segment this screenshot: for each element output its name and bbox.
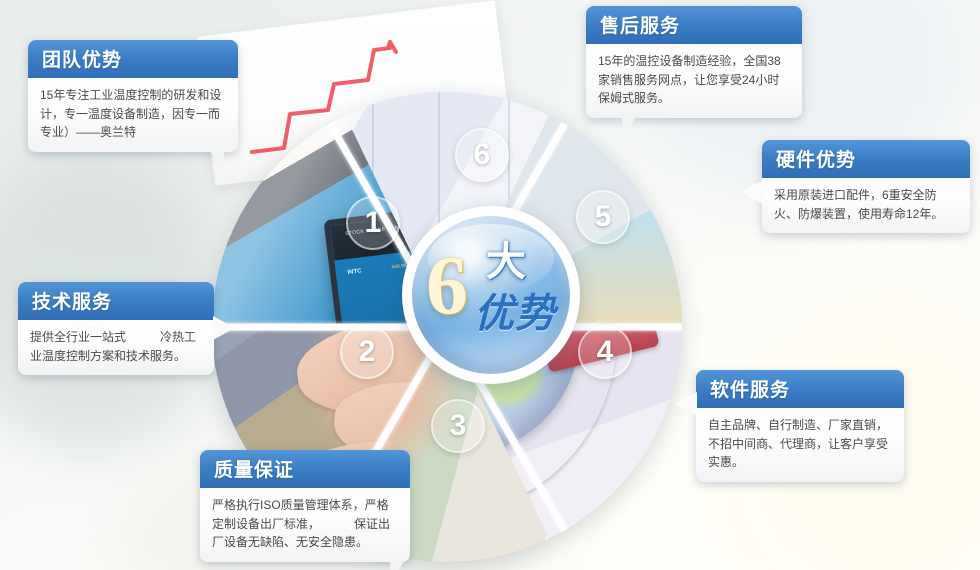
callout-card-quality[interactable]: 质量保证 严格执行ISO质量管理体系，严格定制设备出厂标准，保证出厂设备无缺陷、…	[200, 450, 410, 562]
card-text-after-sales: 15年的温控设备制造经验，全国38家销售服务网点，让您享受24小时保姆式服务。	[586, 44, 802, 118]
marker-4[interactable]: 4	[578, 325, 632, 379]
marker-2[interactable]: 2	[340, 325, 394, 379]
callout-card-software[interactable]: 软件服务 自主品牌、自行制造、厂家直销，不招中间商、代理商，让客户享受实惠。	[696, 370, 904, 482]
hub-big-char: 大	[486, 242, 526, 282]
marker-3[interactable]: 3	[431, 399, 485, 453]
marker-1[interactable]: 1	[346, 196, 400, 250]
card-text-hardware: 采用原装进口配件，6重安全防火、防爆装置，使用寿命12年。	[762, 178, 970, 233]
card-text-quality: 严格执行ISO质量管理体系，严格定制设备出厂标准，保证出厂设备无缺陷、无安全隐患…	[200, 488, 410, 562]
bubble-tail	[213, 316, 235, 340]
card-title-quality: 质量保证	[200, 450, 410, 488]
bubble-tail	[390, 561, 404, 570]
card-title-hardware: 硬件优势	[762, 140, 970, 178]
card-title-team: 团队优势	[28, 40, 238, 78]
card-text-team: 15年专注工业温度控制的研发和设计，专一温度设备制造，因专一而专业）——奥兰特	[28, 78, 238, 152]
bubble-tail	[741, 180, 763, 204]
card-title-after-sales: 售后服务	[586, 6, 802, 44]
callout-card-hardware[interactable]: 硬件优势 采用原装进口配件，6重安全防火、防爆装置，使用寿命12年。	[762, 140, 970, 233]
bubble-tail	[675, 392, 697, 416]
hub-word: 优势	[474, 292, 556, 336]
infographic-canvas: STOCK MARKET DATA INTC 440.96 1 2 3 4	[0, 0, 980, 570]
center-hub-inner: 6 大 优势	[412, 216, 570, 374]
callout-card-tech[interactable]: 技术服务 提供全行业一站式冷热工业温度控制方案和技术服务。	[18, 282, 214, 375]
callout-card-after-sales[interactable]: 售后服务 15年的温控设备制造经验，全国38家销售服务网点，让您享受24小时保姆…	[586, 6, 802, 118]
bubble-tail	[622, 117, 636, 143]
card-title-tech: 技术服务	[18, 282, 214, 320]
marker-5[interactable]: 5	[576, 190, 630, 244]
card-text-tech-a: 提供全行业一站式	[30, 330, 126, 344]
hub-number: 6	[426, 244, 468, 328]
bubble-tail	[210, 151, 224, 177]
card-text-software: 自主品牌、自行制造、厂家直销，不招中间商、代理商，让客户享受实惠。	[696, 408, 904, 482]
center-hub: 6 大 优势	[402, 206, 580, 384]
callout-card-team[interactable]: 团队优势 15年专注工业温度控制的研发和设计，专一温度设备制造，因专一而专业）—…	[28, 40, 238, 152]
card-text-tech: 提供全行业一站式冷热工业温度控制方案和技术服务。	[18, 320, 214, 375]
marker-6[interactable]: 6	[455, 128, 509, 182]
tablet-ticker-symbol: INTC	[347, 268, 362, 276]
card-title-software: 软件服务	[696, 370, 904, 408]
